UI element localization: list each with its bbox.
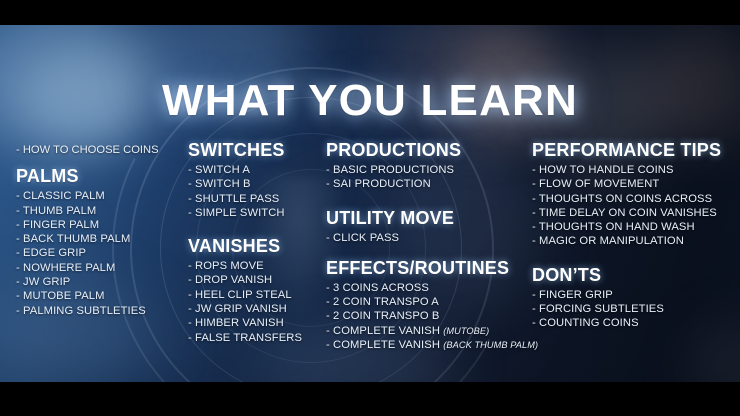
list-item: - THOUGHTS ON HAND WASH (532, 220, 736, 234)
list-item: - FINGER PALM (16, 218, 191, 232)
section-heading: VANISHES (188, 236, 333, 257)
list-item: - CLICK PASS (326, 231, 532, 245)
productions-list: - BASIC PRODUCTIONS - SAI PRODUCTION (326, 163, 532, 192)
list-item: - 3 COINS ACROSS (326, 281, 532, 295)
performance-tips-list: - HOW TO HANDLE COINS - FLOW OF MOVEMENT… (532, 163, 736, 249)
list-item-note: (MUTOBE) (443, 326, 489, 336)
letterbox-top (0, 0, 740, 25)
list-item: - CLASSIC PALM (16, 189, 191, 203)
effects-routines-list: - 3 COINS ACROSS - 2 COIN TRANSPO A - 2 … (326, 281, 532, 352)
list-item: - SAI PRODUCTION (326, 177, 532, 191)
list-item-label: - COMPLETE VANISH (326, 325, 443, 337)
video-frame-screenshot: WHAT YOU LEARN - HOW TO CHOOSE COINS PAL… (0, 0, 740, 416)
letterbox-bottom (0, 382, 740, 416)
list-item: - DROP VANISH (188, 273, 333, 287)
section-heading: PRODUCTIONS (326, 140, 532, 161)
list-item: - FINGER GRIP (532, 288, 736, 302)
list-item: - NOWHERE PALM (16, 261, 191, 275)
section-heading: EFFECTS/ROUTINES (326, 258, 532, 279)
list-item: - HIMBER VANISH (188, 316, 333, 330)
column-productions-effects: PRODUCTIONS - BASIC PRODUCTIONS - SAI PR… (326, 140, 532, 352)
list-item-note: (BACK THUMB PALM) (443, 340, 538, 350)
section-heading: PALMS (16, 166, 191, 187)
section-heading: SWITCHES (188, 140, 333, 161)
list-item: - COMPLETE VANISH (MUTOBE) (326, 324, 532, 338)
list-item: - THOUGHTS ON COINS ACROSS (532, 192, 736, 206)
list-item: - ROPS MOVE (188, 259, 333, 273)
list-item: - SWITCH A (188, 163, 333, 177)
donts-list: - FINGER GRIP - FORCING SUBTLETIES - COU… (532, 288, 736, 331)
column-performance-tips: PERFORMANCE TIPS - HOW TO HANDLE COINS -… (532, 140, 736, 331)
list-item: - MAGIC OR MANIPULATION (532, 234, 736, 248)
list-item: - FLOW OF MOVEMENT (532, 177, 736, 191)
list-item: - 2 COIN TRANSPO A (326, 295, 532, 309)
list-item: - JW GRIP VANISH (188, 302, 333, 316)
utility-move-list: - CLICK PASS (326, 231, 532, 245)
list-item: - PALMING SUBTLETIES (16, 304, 191, 318)
page-title: WHAT YOU LEARN (0, 76, 740, 126)
list-item-label: - COMPLETE VANISH (326, 339, 443, 351)
list-item: - HOW TO CHOOSE COINS (16, 143, 191, 157)
list-item: - TIME DELAY ON COIN VANISHES (532, 206, 736, 220)
list-item: - MUTOBE PALM (16, 289, 191, 303)
column-palms: - HOW TO CHOOSE COINS PALMS - CLASSIC PA… (16, 143, 191, 318)
list-item: - BACK THUMB PALM (16, 232, 191, 246)
palms-list: - CLASSIC PALM - THUMB PALM - FINGER PAL… (16, 189, 191, 318)
list-item: - BASIC PRODUCTIONS (326, 163, 532, 177)
list-item: - EDGE GRIP (16, 246, 191, 260)
list-item: - SWITCH B (188, 177, 333, 191)
section-heading: PERFORMANCE TIPS (532, 140, 736, 161)
list-item: - COUNTING COINS (532, 316, 736, 330)
list-item: - THUMB PALM (16, 204, 191, 218)
switches-list: - SWITCH A - SWITCH B - SHUTTLE PASS - S… (188, 163, 333, 220)
vanishes-list: - ROPS MOVE - DROP VANISH - HEEL CLIP ST… (188, 259, 333, 345)
list-item: - COMPLETE VANISH (BACK THUMB PALM) (326, 338, 532, 352)
section-heading: UTILITY MOVE (326, 208, 532, 229)
list-item: - JW GRIP (16, 275, 191, 289)
section-heading: DON’TS (532, 265, 736, 286)
list-item: - FALSE TRANSFERS (188, 331, 333, 345)
list-item: - FORCING SUBTLETIES (532, 302, 736, 316)
list-item: - 2 COIN TRANSPO B (326, 309, 532, 323)
list-item: - SHUTTLE PASS (188, 192, 333, 206)
column-switches-vanishes: SWITCHES - SWITCH A - SWITCH B - SHUTTLE… (188, 140, 333, 345)
list-item: - HOW TO HANDLE COINS (532, 163, 736, 177)
list-item: - SIMPLE SWITCH (188, 206, 333, 220)
list-item: - HEEL CLIP STEAL (188, 288, 333, 302)
